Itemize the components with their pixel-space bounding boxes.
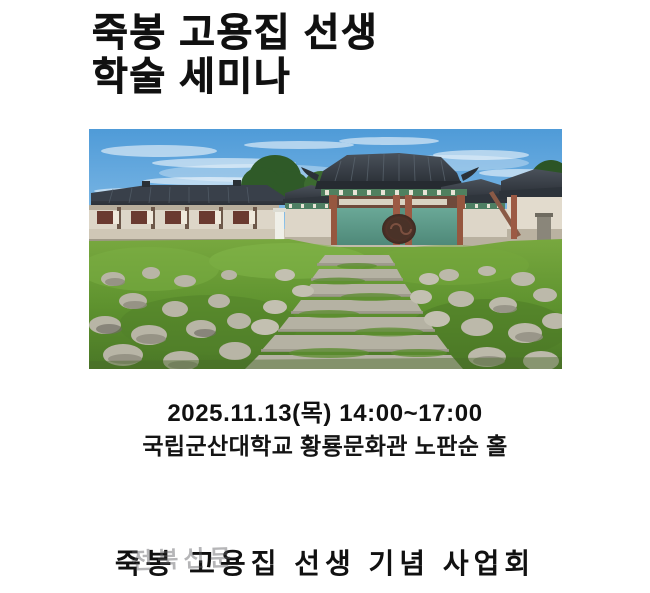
seminar-venue: 국립군산대학교 황룡문화관 노판순 홀	[0, 429, 650, 463]
seminar-datetime: 2025.11.13(목) 14:00~17:00	[0, 398, 650, 429]
seminar-poster: 죽봉 고용집 선생 학술 세미나	[0, 0, 650, 593]
poster-photo-frame	[89, 129, 562, 369]
poster-organizer: 죽봉 고용집 선생 기념 사업회	[0, 546, 650, 582]
poster-title: 죽봉 고용집 선생 학술 세미나	[92, 12, 592, 100]
poster-info: 2025.11.13(목) 14:00~17:00 국립군산대학교 황룡문화관 …	[0, 398, 650, 463]
poster-title-line-2: 학술 세미나	[92, 56, 592, 100]
organizer-name: 죽봉 고용집 선생 기념 사업회	[115, 546, 535, 582]
korean-traditional-seowon-gate-photo	[89, 129, 562, 369]
poster-title-line-1: 죽봉 고용집 선생	[92, 12, 592, 56]
